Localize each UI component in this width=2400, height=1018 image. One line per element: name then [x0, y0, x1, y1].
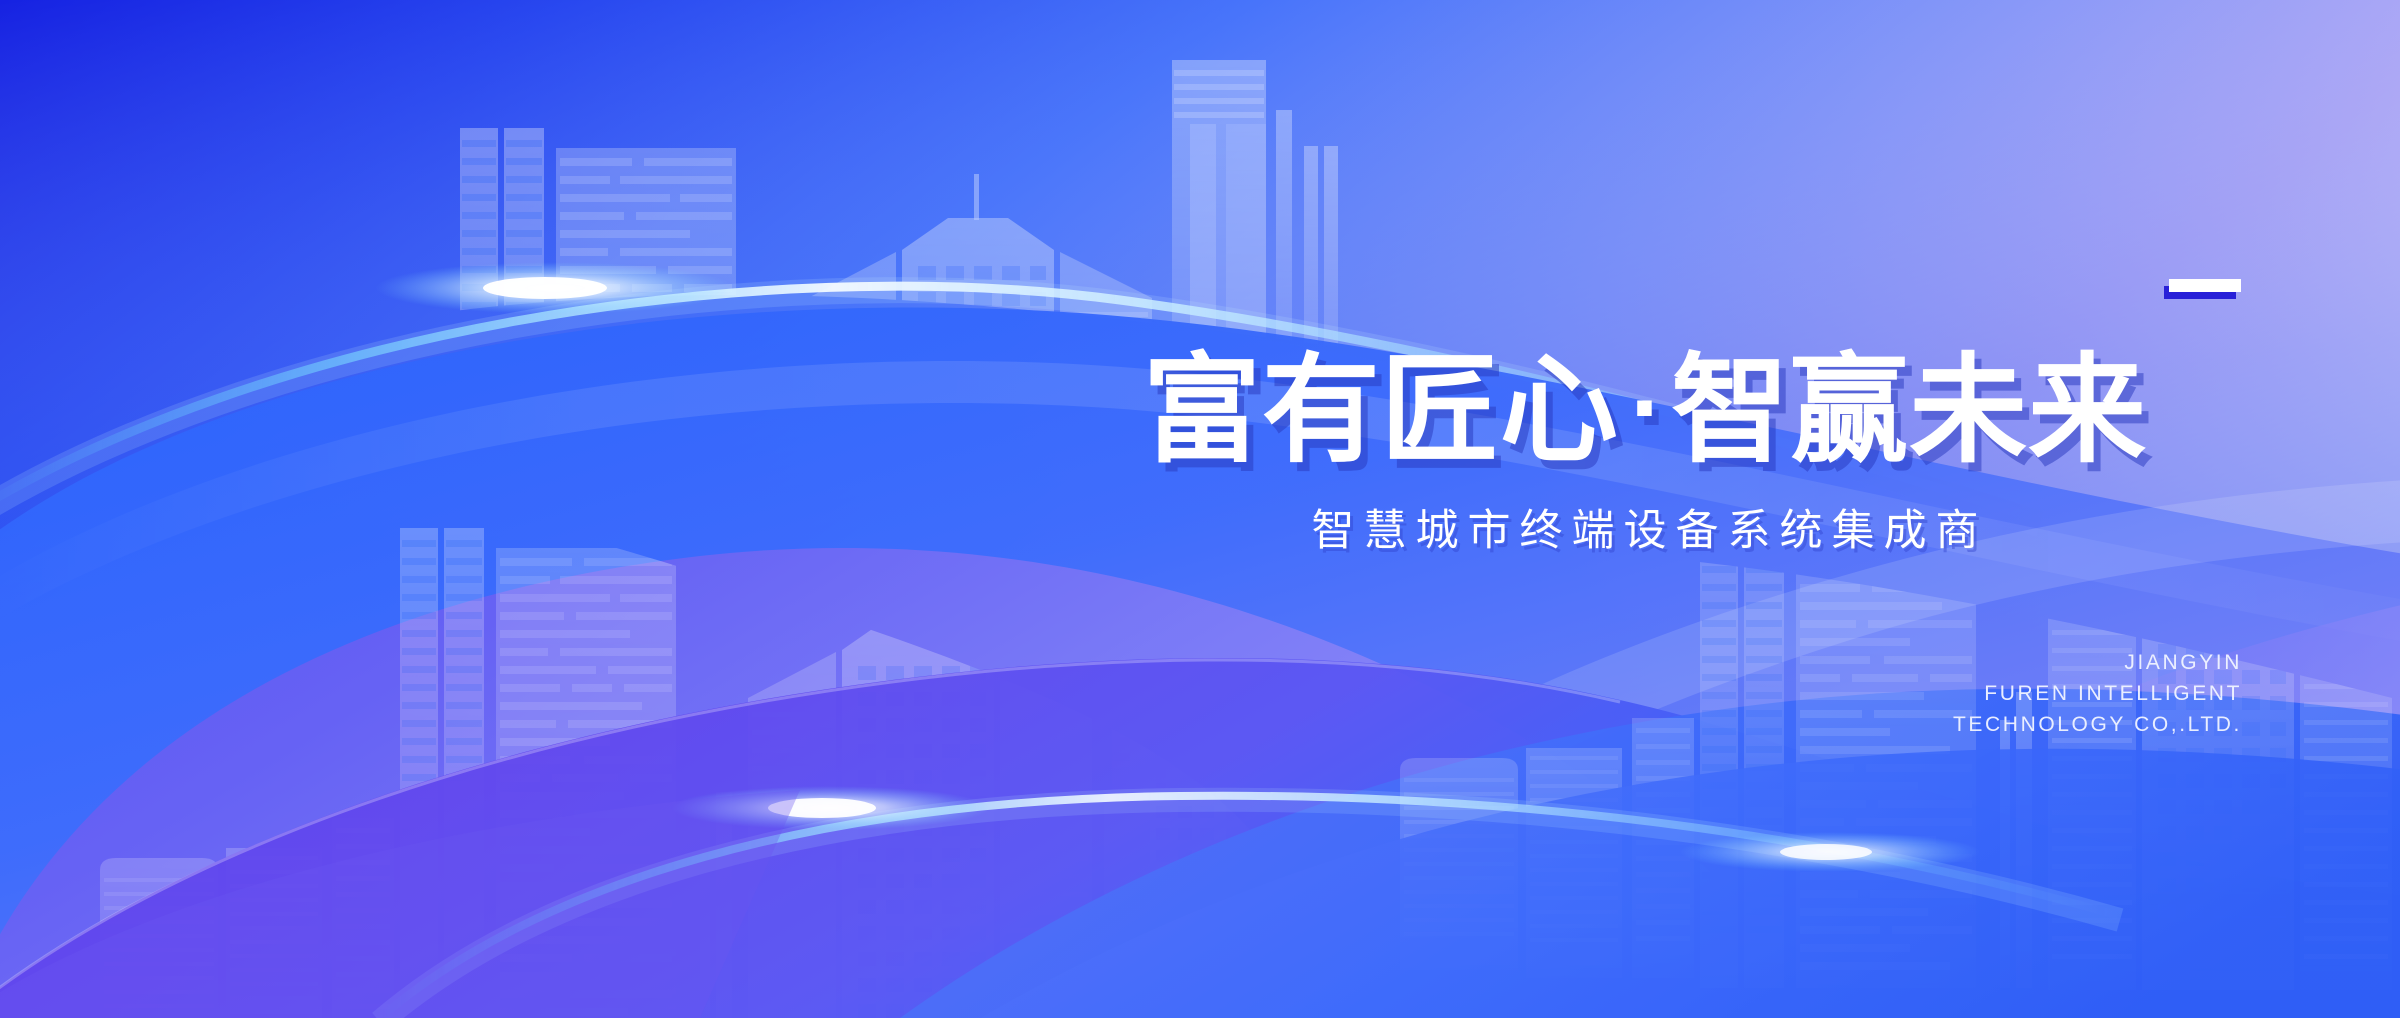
page-subtitle: 智慧城市终端设备系统集成商 [1030, 505, 2260, 557]
company-line-1: JIANGYIN [1682, 647, 2242, 678]
headline-block: 富有匠心·智赢未来 智慧城市终端设备系统集成商 JIANGYIN FUREN I… [1030, 255, 2260, 775]
banner-canvas: 富有匠心·智赢未来 智慧城市终端设备系统集成商 JIANGYIN FUREN I… [0, 0, 2400, 1018]
main-title-part2: 智赢未来 [1671, 341, 2147, 479]
company-line-2: FUREN INTELLIGENT [1682, 678, 2242, 709]
page-title: 富有匠心·智赢未来 [1030, 350, 2260, 470]
company-line-3: TECHNOLOGY CO,.LTD. [1682, 709, 2242, 740]
company-name-english: JIANGYIN FUREN INTELLIGENT TECHNOLOGY CO… [1682, 647, 2242, 740]
main-title-part1: 富有匠心 [1143, 341, 1619, 479]
horizontal-dash-mark-icon [2169, 279, 2241, 292]
main-title-separator-icon: · [1619, 362, 1671, 457]
